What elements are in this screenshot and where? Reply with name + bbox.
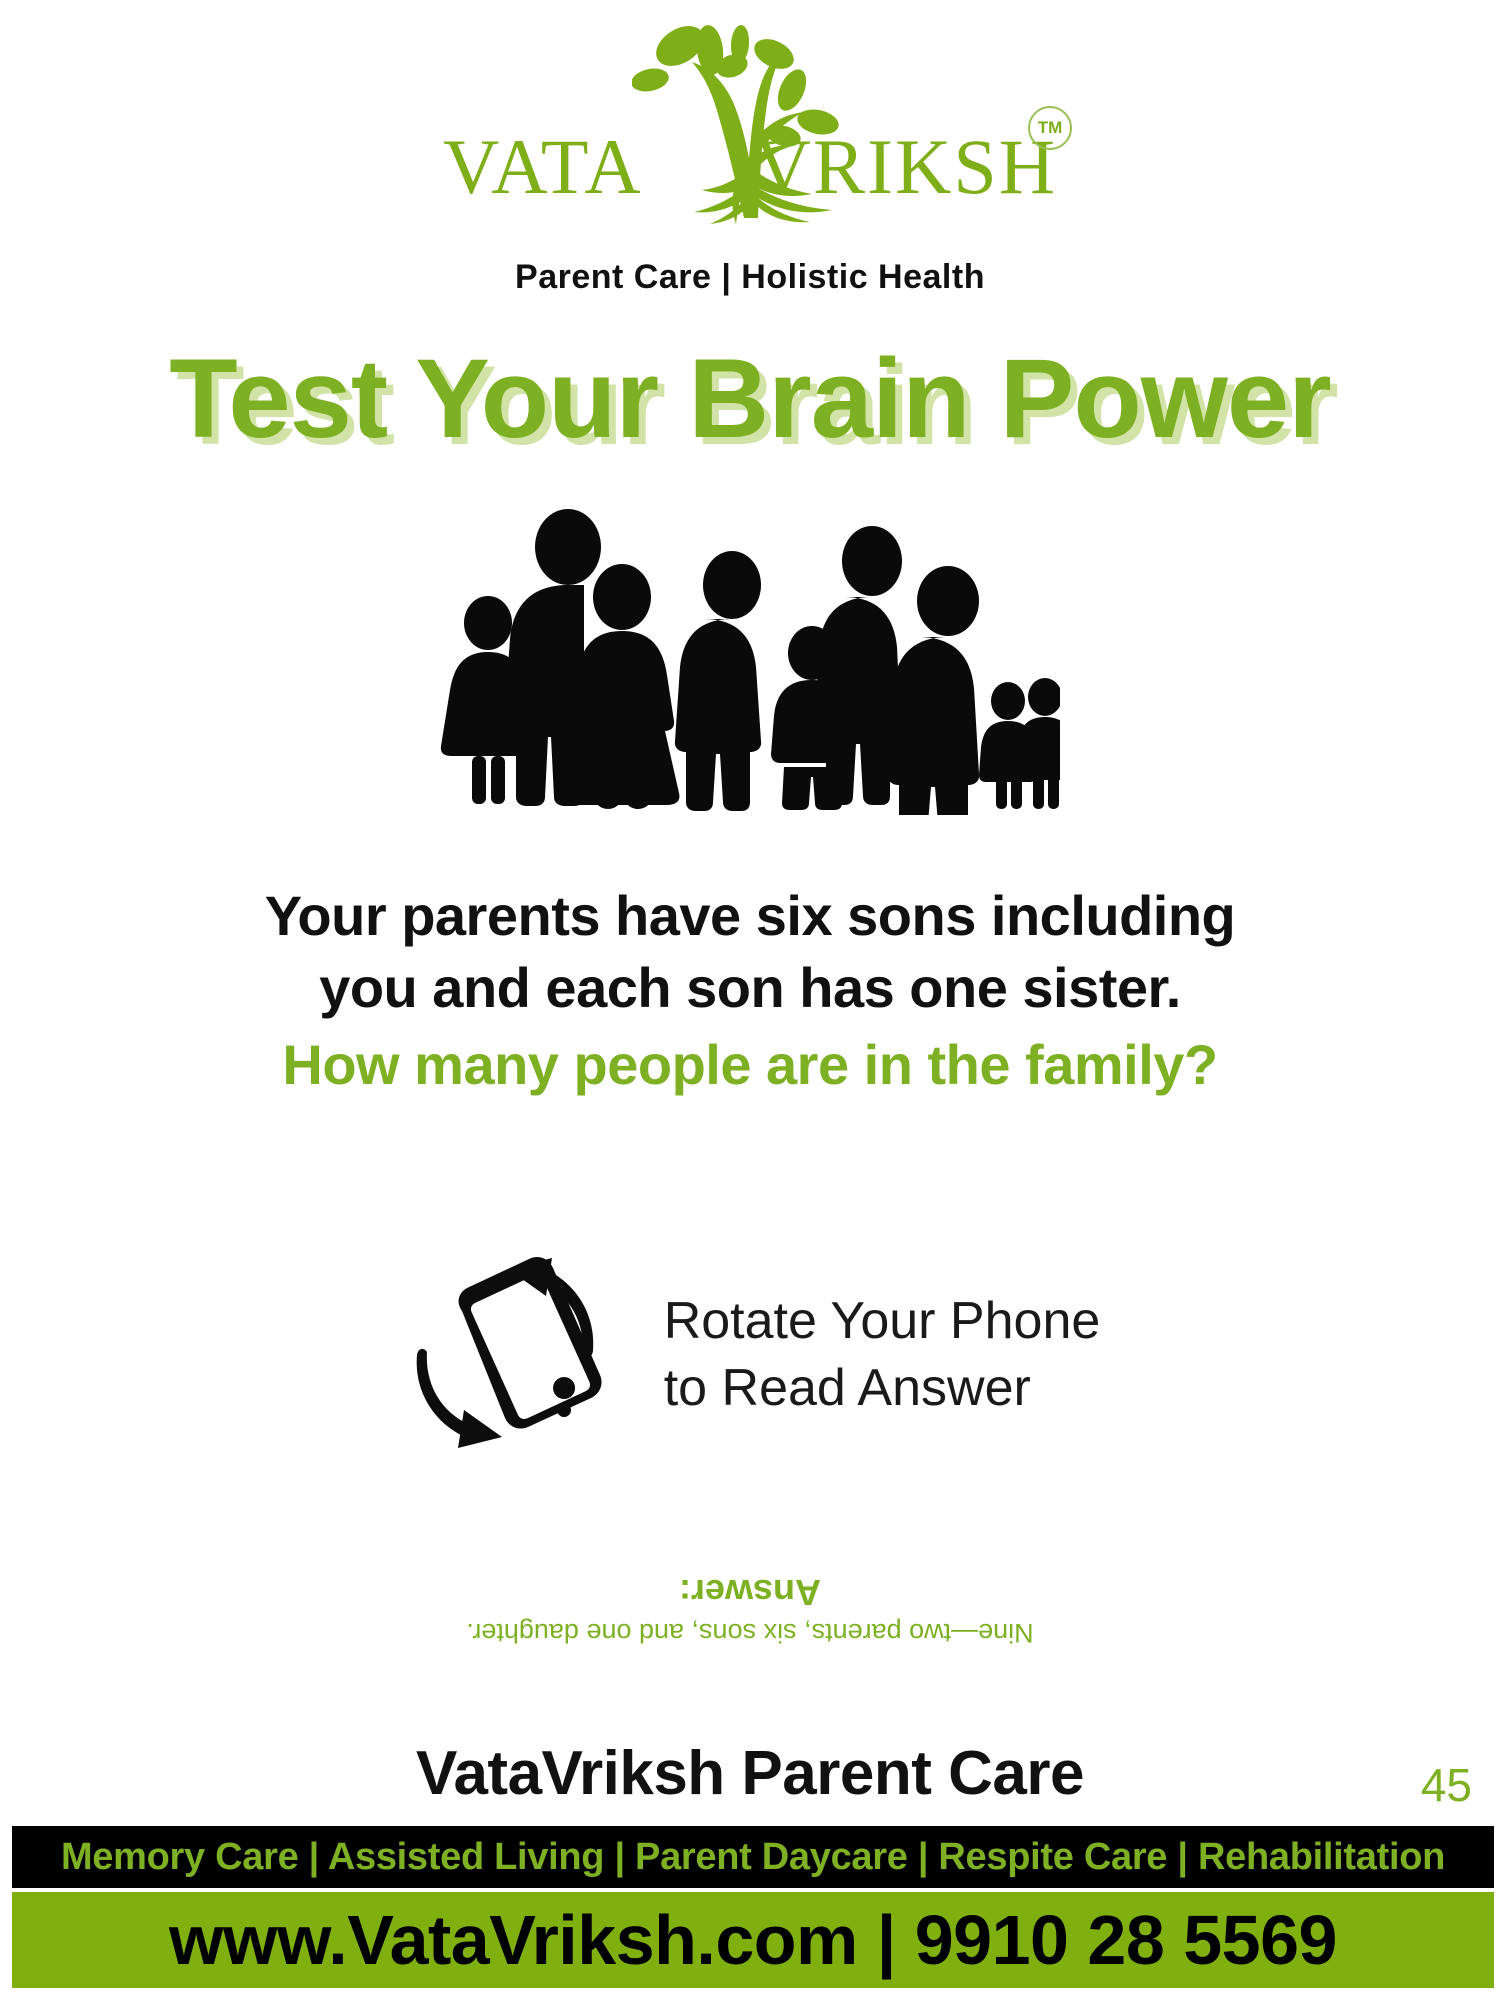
logo-mark: VATAVRIKSH TM <box>400 18 1100 228</box>
rotate-phone-icon <box>400 1255 610 1455</box>
answer-block: Nine—two parents, six sons, and one daug… <box>0 1570 1500 1650</box>
question-prompt: How many people are in the family? <box>0 1029 1500 1101</box>
contact-info[interactable]: www.VataVriksh.com | 9910 28 5569 <box>169 1900 1337 1980</box>
trademark-icon: TM <box>1028 106 1072 150</box>
rotate-instruction: Rotate Your Phone to Read Answer <box>0 1255 1500 1455</box>
brand-logo: VATAVRIKSH TM <box>0 18 1500 233</box>
question-line-1: Your parents have six sons including <box>0 880 1500 952</box>
rotate-line-1: Rotate Your Phone <box>664 1288 1101 1355</box>
wordmark-vata: VATA <box>443 123 643 210</box>
family-silhouette-icon <box>440 505 1060 815</box>
riddle-question: Your parents have six sons including you… <box>0 880 1500 1101</box>
page-number: 45 <box>1421 1758 1472 1812</box>
wordmark-vriksh: VRIKSH <box>755 123 1057 210</box>
answer-label: Answer: <box>0 1570 1500 1615</box>
contact-bar[interactable]: www.VataVriksh.com | 9910 28 5569 <box>12 1892 1494 1988</box>
page-title: Test Your Brain Power <box>0 340 1500 458</box>
services-bar: Memory Care | Assisted Living | Parent D… <box>12 1826 1494 1888</box>
question-line-2: you and each son has one sister. <box>0 952 1500 1024</box>
rotate-line-2: to Read Answer <box>664 1355 1101 1422</box>
family-illustration <box>0 505 1500 820</box>
logo-wordmark: VATAVRIKSH <box>400 128 1100 206</box>
rotate-text: Rotate Your Phone to Read Answer <box>664 1288 1101 1421</box>
answer-text: Nine—two parents, six sons, and one daug… <box>0 1615 1500 1650</box>
footer-brand-name: VataVriksh Parent Care <box>0 1738 1500 1809</box>
poster-canvas: VATAVRIKSH TM Parent Care | Holistic Hea… <box>0 0 1500 2000</box>
services-list: Memory Care | Assisted Living | Parent D… <box>61 1836 1445 1879</box>
brand-tagline: Parent Care | Holistic Health <box>0 258 1500 297</box>
